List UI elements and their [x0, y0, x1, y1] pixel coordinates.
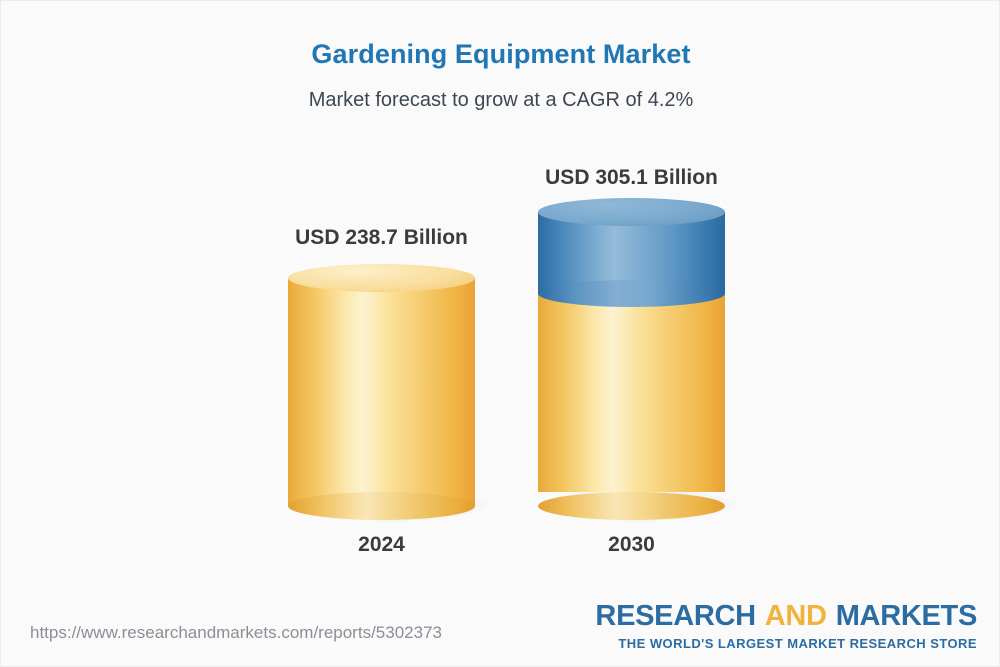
cylinder-seam-2030: [538, 280, 725, 307]
research-and-markets-logo[interactable]: RESEARCHANDMARKETS THE WORLD'S LARGEST M…: [595, 602, 977, 651]
cylinder-body-base-2030: [538, 294, 725, 492]
logo-text-markets: MARKETS: [836, 600, 977, 632]
cylinder-top-2024: [288, 264, 475, 292]
cylinder-top-2030: [538, 198, 725, 226]
logo-tagline: THE WORLD'S LARGEST MARKET RESEARCH STOR…: [595, 636, 977, 651]
value-label-2030: USD 305.1 Billion: [438, 166, 825, 190]
cylinder-2024[interactable]: [288, 264, 475, 520]
chart-canvas: Gardening Equipment Market Market foreca…: [0, 0, 1000, 667]
value-label-2024: USD 238.7 Billion: [188, 226, 575, 250]
cylinder-bottom-2030: [538, 492, 725, 520]
cylinder-2030[interactable]: [538, 198, 725, 520]
logo-text-research: RESEARCH: [595, 600, 755, 632]
logo-text-and: AND: [765, 600, 827, 632]
cylinder-bottom-2024: [288, 492, 475, 520]
year-label-2030: 2030: [438, 533, 825, 557]
plot-area: USD 238.7 Billion 2024 USD 305.1 Billion: [1, 1, 1000, 667]
cylinder-body-2024: [288, 278, 475, 506]
logo-wordmark: RESEARCHANDMARKETS: [595, 602, 977, 631]
source-url[interactable]: https://www.researchandmarkets.com/repor…: [30, 623, 442, 643]
